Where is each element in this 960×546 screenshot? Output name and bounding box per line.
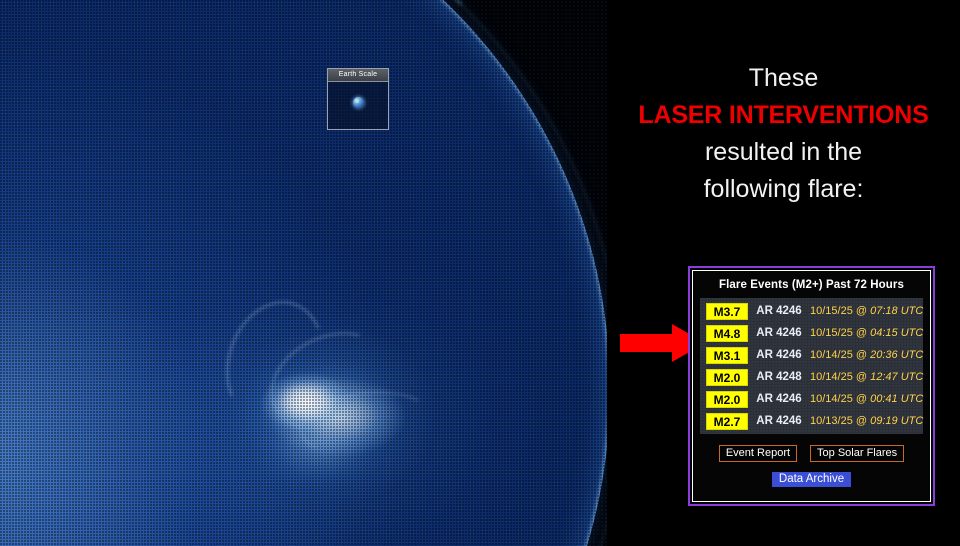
- flare-class-badge: M3.7: [706, 303, 748, 320]
- table-row[interactable]: M2.0 AR 4246 10/14/25 @ 00:41 UTC: [700, 388, 923, 410]
- flare-timestamp: 10/15/25 @ 04:15 UTC: [810, 327, 923, 339]
- flare-events-panel: Flare Events (M2+) Past 72 Hours M3.7 AR…: [688, 266, 935, 506]
- flare-date: 10/13/25 @: [810, 415, 867, 427]
- active-region-label: AR 4246: [748, 327, 810, 339]
- flare-date: 10/15/25 @: [810, 305, 867, 317]
- table-row[interactable]: M2.7 AR 4246 10/13/25 @ 09:19 UTC: [700, 410, 923, 432]
- flare-time-utc: 12:47 UTC: [870, 371, 923, 383]
- flare-panel-title: Flare Events (M2+) Past 72 Hours: [700, 279, 923, 291]
- headline-line-3: resulted in the: [607, 134, 960, 171]
- flare-events-table: M3.7 AR 4246 10/15/25 @ 07:18 UTC M4.8 A…: [700, 298, 923, 434]
- solar-euv-image: Earth Scale: [0, 0, 607, 546]
- image-halftone-texture: [0, 0, 607, 546]
- flare-time-utc: 20:36 UTC: [870, 349, 923, 361]
- active-region-label: AR 4246: [748, 349, 810, 361]
- flare-date: 10/14/25 @: [810, 371, 867, 383]
- earth-scale-label: Earth Scale: [328, 69, 388, 82]
- flare-time-utc: 00:41 UTC: [870, 393, 923, 405]
- flare-time-utc: 07:18 UTC: [870, 305, 923, 317]
- flare-date: 10/14/25 @: [810, 393, 867, 405]
- headline-line-1: These: [607, 60, 960, 97]
- headline-block: These LASER INTERVENTIONS resulted in th…: [607, 60, 960, 208]
- table-row[interactable]: M4.8 AR 4246 10/15/25 @ 04:15 UTC: [700, 322, 923, 344]
- earth-scale-inset: Earth Scale: [327, 68, 389, 130]
- headline-emphasis: LASER INTERVENTIONS: [607, 97, 960, 134]
- flare-class-badge: M3.1: [706, 347, 748, 364]
- active-region-label: AR 4246: [748, 415, 810, 427]
- flare-timestamp: 10/14/25 @ 00:41 UTC: [810, 393, 923, 405]
- flare-timestamp: 10/14/25 @ 20:36 UTC: [810, 349, 923, 361]
- flare-panel-inner: Flare Events (M2+) Past 72 Hours M3.7 AR…: [692, 270, 931, 502]
- active-region-label: AR 4248: [748, 371, 810, 383]
- flare-timestamp: 10/15/25 @ 07:18 UTC: [810, 305, 923, 317]
- flare-timestamp: 10/13/25 @ 09:19 UTC: [810, 415, 923, 427]
- flare-panel-buttons: Event Report Top Solar Flares: [700, 445, 923, 462]
- flare-class-badge: M2.7: [706, 413, 748, 430]
- flare-class-badge: M4.8: [706, 325, 748, 342]
- table-row[interactable]: M3.1 AR 4246 10/14/25 @ 20:36 UTC: [700, 344, 923, 366]
- data-archive-button[interactable]: Data Archive: [772, 472, 851, 487]
- earth-globe-icon: [353, 97, 364, 108]
- flare-time-utc: 09:19 UTC: [870, 415, 923, 427]
- flare-timestamp: 10/14/25 @ 12:47 UTC: [810, 371, 923, 383]
- flare-date: 10/15/25 @: [810, 327, 867, 339]
- data-archive-row: Data Archive: [700, 472, 923, 487]
- active-region-label: AR 4246: [748, 305, 810, 317]
- headline-line-4: following flare:: [607, 171, 960, 208]
- table-row[interactable]: M3.7 AR 4246 10/15/25 @ 07:18 UTC: [700, 300, 923, 322]
- top-solar-flares-button[interactable]: Top Solar Flares: [810, 445, 904, 462]
- flare-class-badge: M2.0: [706, 391, 748, 408]
- active-region-label: AR 4246: [748, 393, 810, 405]
- flare-time-utc: 04:15 UTC: [870, 327, 923, 339]
- table-row[interactable]: M2.0 AR 4248 10/14/25 @ 12:47 UTC: [700, 366, 923, 388]
- event-report-button[interactable]: Event Report: [719, 445, 797, 462]
- flare-date: 10/14/25 @: [810, 349, 867, 361]
- flare-class-badge: M2.0: [706, 369, 748, 386]
